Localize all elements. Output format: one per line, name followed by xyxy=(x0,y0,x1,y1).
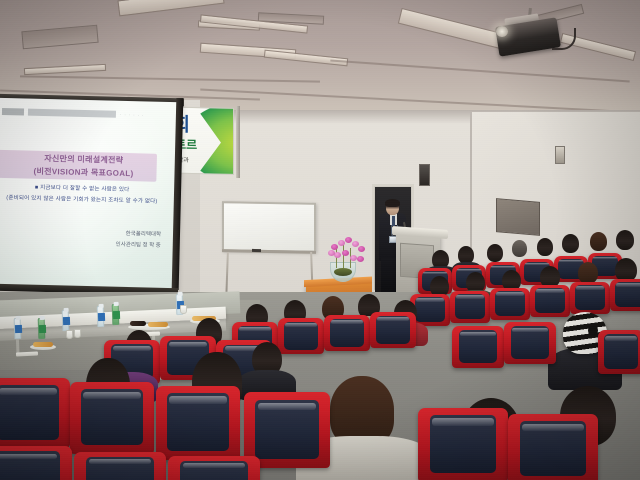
audience-seat xyxy=(490,288,530,320)
water-bottle xyxy=(14,318,22,339)
slide-body-text: ■ 지금보다 더 잘할 수 없는 사람은 있다 (준비되어 있지 않은 사람은 … xyxy=(0,182,166,208)
front-row-seat xyxy=(70,382,154,454)
beanie-top-knot xyxy=(588,325,598,336)
water-bottle xyxy=(62,310,70,331)
orchid-bloom xyxy=(357,256,364,262)
water-bottle xyxy=(97,306,105,327)
green-drink-bottle xyxy=(38,318,46,339)
audience-head xyxy=(616,230,634,250)
whiteboard-marker xyxy=(252,249,261,252)
paper-cup xyxy=(74,329,81,338)
front-row-seat xyxy=(0,446,72,480)
audience-seat xyxy=(450,291,490,323)
ceiling-light-fixture xyxy=(264,50,348,67)
audience-seat xyxy=(570,282,610,314)
slide-footer: 한국폴리텍대학 인사관리팀 정 학 중 xyxy=(51,227,162,252)
audience-seat xyxy=(598,330,640,374)
audience-seat xyxy=(530,285,570,317)
ceiling-light-fixture xyxy=(117,0,224,16)
audience-seat xyxy=(610,279,640,311)
paper-cup xyxy=(66,330,73,339)
wall-mounted-fixture xyxy=(555,146,565,164)
wall-access-panel xyxy=(496,198,540,236)
orchid-bloom xyxy=(350,255,357,261)
audience-head xyxy=(512,240,527,257)
audience-seat xyxy=(452,326,504,368)
front-row-seat xyxy=(74,452,166,480)
orchid-bloom xyxy=(328,250,335,256)
slide-title: 자신만의 미래설계전략 (비전VISION과 목표GOAL) xyxy=(8,151,159,181)
orchid-bloom xyxy=(338,240,345,246)
audience-head xyxy=(578,262,598,284)
audience-head xyxy=(487,244,503,262)
projection-screen: · · · · · · 자신만의 미래설계전략 (비전VISION과 목표GOA… xyxy=(0,98,180,290)
food-items xyxy=(130,321,146,326)
front-row-seat xyxy=(418,408,508,480)
ceiling-seam xyxy=(330,60,629,83)
projector-lens-icon xyxy=(496,26,508,37)
orchid-bloom xyxy=(345,237,352,243)
vase-moss xyxy=(334,268,352,276)
audience-seat xyxy=(324,315,370,351)
ceiling-seam xyxy=(20,75,320,82)
door-sign-plate xyxy=(419,164,430,186)
speaker-hair xyxy=(385,199,400,207)
audience-head xyxy=(537,238,553,256)
orchid-bloom xyxy=(342,250,349,256)
orchid-bloom xyxy=(358,246,365,252)
food-items xyxy=(148,322,168,327)
front-row-seat xyxy=(0,378,70,448)
audience-seat xyxy=(504,322,556,364)
orchid-bloom xyxy=(334,252,341,258)
paper-cup xyxy=(180,305,187,314)
audience-head xyxy=(562,234,579,253)
slide-header-dots: · · · · · · xyxy=(120,112,145,118)
front-row-seat xyxy=(508,414,598,480)
banner-hanging-rail xyxy=(236,106,240,178)
food-items xyxy=(33,342,53,347)
ceiling-light-fixture xyxy=(24,64,106,75)
lecture-hall-photo: 수회 전탁토르 급 현행공학과 · · · · · · 자신만의 미래설계전략 … xyxy=(0,0,640,480)
audience-head xyxy=(590,232,607,251)
front-row-seat xyxy=(156,386,240,460)
audience-seat xyxy=(278,318,324,354)
green-drink-bottle xyxy=(112,304,120,325)
front-row-seat xyxy=(168,456,260,480)
whiteboard xyxy=(222,201,316,253)
ceiling-vent xyxy=(21,25,98,50)
audience-seat xyxy=(370,312,416,348)
